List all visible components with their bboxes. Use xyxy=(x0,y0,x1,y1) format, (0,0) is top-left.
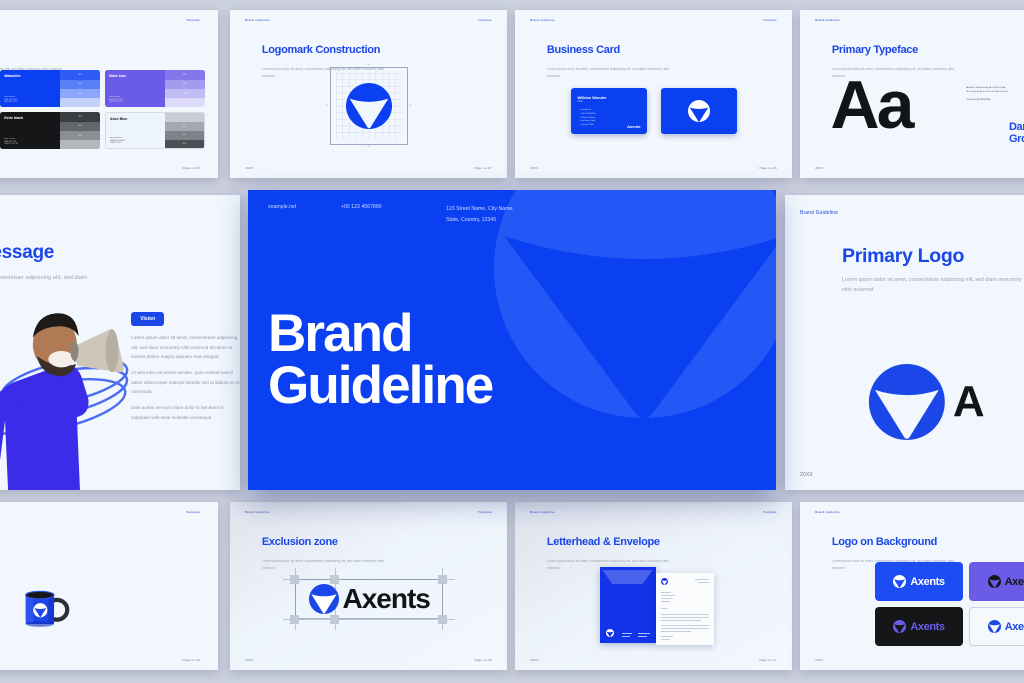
hero-title-line1: Brand xyxy=(268,308,492,360)
exclusion-marker-tr xyxy=(438,575,447,584)
brand-message-panel: Vision Lorem ipsum dolor sit amet, conse… xyxy=(131,307,240,428)
swatch-tint: 20% xyxy=(165,140,204,149)
business-card-back xyxy=(661,88,737,134)
primary-logo-wordmark: A xyxy=(953,377,983,427)
glyph-row: Nn Oo Pp Qq Rr Ss Tt Uu Vv Ww Xx Yy Zz xyxy=(966,90,1024,94)
slide-header-right: Template xyxy=(186,18,200,22)
brand-message-paragraphs: Lorem ipsum dolor sit amet, consectetuer… xyxy=(131,333,240,422)
slide-title: Logomark Construction xyxy=(262,44,380,56)
logo-variant-card: Axents xyxy=(969,562,1024,601)
slide-brand-message[interactable]: Brand Guideline Brand Message Lorem ipsu… xyxy=(0,195,240,490)
hero-meta-row: example.net +00 123 4567890 123 Street N… xyxy=(248,204,776,234)
axents-logomark-icon xyxy=(893,620,906,633)
hero-title-line2: Guideline xyxy=(268,360,492,412)
slide-footer-right: Page no 07 xyxy=(474,166,491,170)
card-contact-list: • example.net• +00 123 4567890• 123 Stre… xyxy=(580,109,596,128)
business-card-front: Wilkins Wonder CEO • example.net• +00 12… xyxy=(571,88,647,134)
slide-header-left: Brand Guideline xyxy=(530,510,554,514)
slide-footer-right: Page no 09 xyxy=(474,658,491,662)
color-swatch: MalachiteHEX 0B40F2RGB 11 64 242CMYK 95 … xyxy=(0,70,100,107)
swatch-tints: 80%60%40%20% xyxy=(165,70,205,107)
slide-primary-typeface[interactable]: Brand Guideline Template Primary Typefac… xyxy=(800,10,1024,178)
slide-letterhead-envelope[interactable]: Brand Guideline Template Letterhead & En… xyxy=(515,502,792,670)
brand-message-paragraph: Lorem ipsum dolor sit amet, consectetuer… xyxy=(131,333,240,362)
exclusion-guide-top xyxy=(283,579,455,580)
card-person-role: CEO xyxy=(578,101,583,103)
exclusion-marker-mb xyxy=(330,615,339,624)
typeface-glyph-set: Aa Bb Cc Dd Ee Ff Gg Hh Ii Jj Kk Ll MmNn… xyxy=(966,86,1024,102)
dimension-label-left: 4x xyxy=(325,105,329,107)
slide-header-right: Template xyxy=(763,510,777,514)
logo-variant-card: Axents xyxy=(875,562,963,601)
slide-header-left: Brand Guideline xyxy=(815,510,839,514)
axents-logomark-icon xyxy=(346,83,392,129)
slide-title: Brand Message xyxy=(0,242,54,264)
envelope-mockup xyxy=(600,567,656,643)
swatch-tint: 60% xyxy=(165,80,205,89)
axents-logomark-icon xyxy=(688,100,710,122)
dimension-label-bottom: 4x xyxy=(366,146,370,148)
card-contact-item: • Country, 12345 xyxy=(580,124,596,128)
slide-footer-left: 20XX xyxy=(800,472,813,478)
brand-message-paragraph: Ut wisi enim ad minim veniam, quis nostr… xyxy=(131,368,240,397)
slide-footer-right: Page no 17 xyxy=(759,658,776,662)
swatch-primary: Alice BlueHEX EEF4FBRGB 238 244 251CMYK … xyxy=(106,113,165,148)
slide-footer-left: 20XX xyxy=(245,166,253,170)
logo-variant-grid: AxentsAxentsAxentsAxents xyxy=(875,562,1024,646)
slide-exclusion-zone[interactable]: Brand Guideline Template Exclusion zone … xyxy=(230,502,507,670)
slide-footer-right: Page no 16 xyxy=(759,166,776,170)
slide-subtitle: Lorem ipsum dolor sit amet, consectetuer… xyxy=(547,66,674,79)
swatch-tint: 60% xyxy=(60,80,100,89)
slide-header-left: Brand Guideline xyxy=(530,18,554,22)
dimension-label-right: 4x xyxy=(408,105,412,107)
slide-logomark-construction[interactable]: Brand Guideline Template Logomark Constr… xyxy=(230,10,507,178)
color-swatch: Slate blueHEX 6B5CE7RGB 107 92 231CMYK 5… xyxy=(105,70,205,107)
slide-header-right: Template xyxy=(478,18,492,22)
business-card-mockups: Wilkins Wonder CEO • example.net• +00 12… xyxy=(571,88,737,134)
swatch-tint: 80% xyxy=(60,70,100,79)
swatch-tint: 60% xyxy=(60,122,100,131)
slide-footer-left: 20XX xyxy=(815,658,823,662)
swatch-values: HEX EEF4FBRGB 238 244 251CMYK 5 3 0 2 xyxy=(110,137,125,146)
slide-footer-left: 20XX xyxy=(530,166,538,170)
hero-title-slide[interactable]: example.net +00 123 4567890 123 Street N… xyxy=(248,190,776,490)
slide-footer-right: Page no 03 xyxy=(183,166,200,170)
swatch-name: Alice Blue xyxy=(110,117,161,121)
slide-title: Exclusion zone xyxy=(262,536,338,548)
slide-header-left: Brand Guideline xyxy=(245,510,269,514)
slide-footer-left: 20XX xyxy=(815,166,823,170)
slide-subtitle: Lorem ipsum dolor sit amet, consectetuer… xyxy=(842,275,1024,296)
card-person-name: Wilkins Wonder xyxy=(578,95,607,100)
exclusion-marker-tl xyxy=(290,575,299,584)
hero-address-line2: State, Country, 12345 xyxy=(446,215,514,226)
glyph-row: !@#$%^&*()1234567890 xyxy=(966,98,1024,102)
exclusion-wordmark: Axents xyxy=(343,583,430,615)
swatch-tint: 60% xyxy=(165,122,204,131)
swatch-tint: 40% xyxy=(60,131,100,140)
primary-logo-lockup: A xyxy=(869,364,983,440)
logo-variant-wordmark: Axents xyxy=(910,621,944,633)
letterhead-mockups xyxy=(594,567,714,645)
swatch-tints: 80%60%40%20% xyxy=(165,113,204,148)
color-swatch: Alice BlueHEX EEF4FBRGB 238 244 251CMYK … xyxy=(105,112,205,149)
mug-mockup xyxy=(20,582,72,630)
slide-gallery: Brand Guideline Template Primary Color L… xyxy=(0,0,1024,683)
swatch-values: HEX 6B5CE7RGB 107 92 231CMYK 54 60 0 9 xyxy=(109,96,123,105)
swatch-tint: 40% xyxy=(165,131,204,140)
dimension-line-bottom xyxy=(330,144,408,145)
typeface-name: Darker Grotesque xyxy=(1009,121,1024,146)
slide-primary-logo[interactable]: Brand Guideline Primary Logo Lorem ipsum… xyxy=(785,195,1024,490)
swatch-primary: MalachiteHEX 0B40F2RGB 11 64 242CMYK 95 … xyxy=(0,70,60,107)
slide-business-card[interactable]: Brand Guideline Template Business Card L… xyxy=(515,10,792,178)
slide-subtitle: Lorem ipsum dolor sit amet, consectetuer… xyxy=(262,558,389,571)
exclusion-zone-diagram: Axents xyxy=(295,579,443,619)
logo-variant-card: Axents xyxy=(969,607,1024,646)
slide-footer-left: 20XX xyxy=(245,658,253,662)
logo-variant-wordmark: Axents xyxy=(910,576,944,588)
slide-footer-left: 20XX xyxy=(530,658,538,662)
logomark-construction-grid: 4x 4x 4x 4x xyxy=(336,73,402,139)
dimension-label-top: 4x xyxy=(366,64,370,66)
exclusion-marker-bl xyxy=(290,615,299,624)
slide-header-right: Template xyxy=(478,510,492,514)
swatch-tint: 20% xyxy=(60,98,100,107)
letterhead-mockup xyxy=(656,573,714,645)
swatch-tints: 80%60%40%20% xyxy=(60,112,100,149)
slide-header-right: Template xyxy=(186,510,200,514)
axents-logomark-icon xyxy=(869,364,945,440)
hero-address: 123 Street Name, City Name, State, Count… xyxy=(446,204,514,226)
hero-address-line1: 123 Street Name, City Name, xyxy=(446,204,514,215)
axents-logomark-icon xyxy=(606,629,614,637)
exclusion-logo-lockup: Axents xyxy=(309,583,430,615)
slide-header-right: Template xyxy=(763,18,777,22)
hero-website: example.net xyxy=(268,204,296,210)
slide-merchandise-mug[interactable]: Template Lorem ipsum dolor sit amet, con… xyxy=(0,502,218,670)
swatch-values: HEX 141618RGB 20 22 24CMYK 17 8 0 91 xyxy=(4,138,18,147)
exclusion-marker-br xyxy=(438,615,447,624)
slide-header-left: Brand Guideline xyxy=(815,18,839,22)
swatch-primary: Eerie blackHEX 141618RGB 20 22 24CMYK 17… xyxy=(0,112,60,149)
typeface-specimen: Aa xyxy=(830,77,911,134)
slide-primary-color[interactable]: Brand Guideline Template Primary Color L… xyxy=(0,10,218,178)
slide-header-left: Brand Guideline xyxy=(800,210,838,216)
swatch-tint: 40% xyxy=(60,89,100,98)
typeface-name-line2: Grotesque xyxy=(1009,133,1024,145)
swatch-tint: 20% xyxy=(165,98,205,107)
axents-logomark-icon xyxy=(309,584,339,614)
envelope-flap xyxy=(603,570,653,584)
swatch-tint: 80% xyxy=(60,112,100,121)
axents-logomark-icon xyxy=(988,620,1001,633)
typeface-name-line1: Darker xyxy=(1009,121,1024,133)
hero-phone: +00 123 4567890 xyxy=(341,204,382,210)
swatch-tints: 80%60%40%20% xyxy=(60,70,100,107)
logo-variant-wordmark: Axents xyxy=(1005,621,1024,633)
brand-message-paragraph: Duis autem vel eum iriure dolor in hendr… xyxy=(131,403,240,422)
exclusion-guide-bottom xyxy=(283,619,455,620)
slide-title: Primary Logo xyxy=(842,245,964,268)
swatch-tint: 80% xyxy=(165,113,204,122)
slide-title: Letterhead & Envelope xyxy=(547,536,660,548)
swatch-tint: 80% xyxy=(165,70,205,79)
color-swatch-grid: MalachiteHEX 0B40F2RGB 11 64 242CMYK 95 … xyxy=(0,70,205,149)
swatch-primary: Slate blueHEX 6B5CE7RGB 107 92 231CMYK 5… xyxy=(105,70,165,107)
slide-logo-on-background[interactable]: Brand Guideline Logo on Background Lorem… xyxy=(800,502,1024,670)
logo-variant-card: Axents xyxy=(875,607,963,646)
axents-logomark-icon xyxy=(661,578,668,585)
swatch-tint: 20% xyxy=(60,140,100,149)
dimension-line-left xyxy=(330,67,331,145)
slide-footer-right: Page no 22 xyxy=(183,658,200,662)
axents-logomark-icon xyxy=(893,575,906,588)
swatch-name: Malachite xyxy=(4,74,56,78)
swatch-name: Slate blue xyxy=(109,74,161,78)
slide-title: Primary Typeface xyxy=(832,44,918,56)
swatch-tint: 40% xyxy=(165,89,205,98)
swatch-name: Eerie black xyxy=(4,116,56,120)
logo-variant-wordmark: Axents xyxy=(1005,576,1024,588)
slide-title: Business Card xyxy=(547,44,620,56)
axents-logomark-icon xyxy=(988,575,1001,588)
vision-button[interactable]: Vision xyxy=(131,312,164,326)
color-swatch: Eerie blackHEX 141618RGB 20 22 24CMYK 17… xyxy=(0,112,100,149)
swatch-values: HEX 0B40F2RGB 11 64 242CMYK 95 73 0 5 xyxy=(4,96,18,105)
slide-header-left: Brand Guideline xyxy=(245,18,269,22)
slide-title: Logo on Background xyxy=(832,536,937,548)
card-brand-name: Axents xyxy=(627,124,640,129)
hero-title: Brand Guideline xyxy=(268,308,492,413)
dimension-line-top xyxy=(330,67,408,68)
